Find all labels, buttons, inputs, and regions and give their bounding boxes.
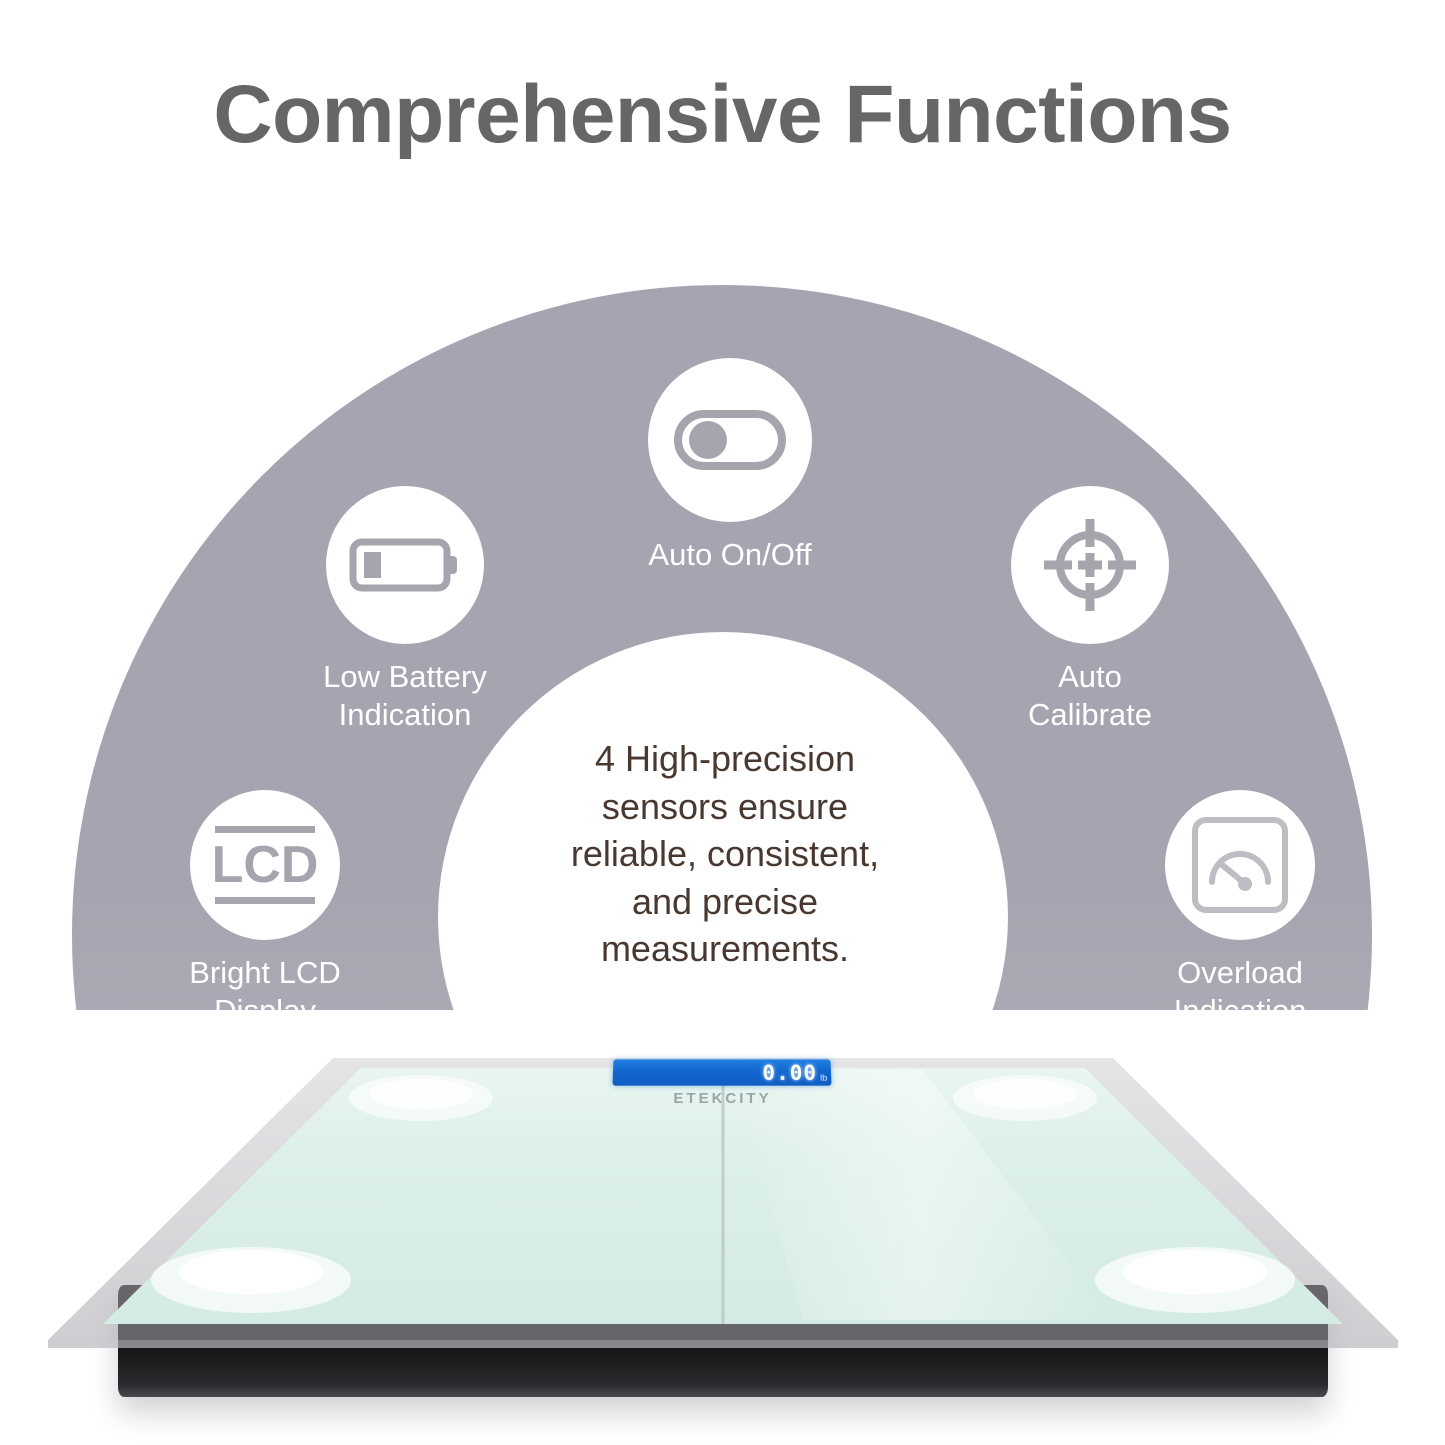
feature-auto-calibrate[interactable]: Auto Calibrate	[957, 486, 1223, 734]
lcd-unit-label: lb	[820, 1073, 827, 1083]
feature-overload[interactable]: Overload Indication	[1115, 790, 1365, 1030]
infographic-canvas: Comprehensive Functions 4 High-precision…	[0, 0, 1445, 1445]
svg-text:LCD: LCD	[212, 836, 319, 894]
feature-icon-bubble	[648, 358, 812, 522]
toggle-switch-icon	[674, 410, 786, 470]
lcd-weight-value: 0.00	[762, 1061, 817, 1084]
center-description: 4 High-precision sensors ensure reliable…	[470, 735, 980, 973]
feature-label: Bright LCD Display	[140, 954, 390, 1030]
crosshair-target-icon	[1038, 513, 1142, 617]
feature-bright-lcd[interactable]: LCD Bright LCD Display	[140, 790, 390, 1030]
gauge-icon	[1191, 816, 1289, 914]
feature-icon-bubble	[326, 486, 484, 644]
lcd-icon: LCD	[211, 824, 319, 906]
feature-label: Auto On/Off	[595, 536, 865, 574]
scale-lcd-display: 0.00 lb	[612, 1059, 831, 1085]
feature-label: Auto Calibrate	[957, 658, 1223, 734]
brand-logo-text: ETEKCITY	[0, 1090, 1445, 1107]
feature-auto-on-off[interactable]: Auto On/Off	[595, 358, 865, 574]
page-title: Comprehensive Functions	[0, 74, 1445, 156]
feature-icon-bubble	[1165, 790, 1315, 940]
feature-icon-bubble	[1011, 486, 1169, 644]
feature-label: Low Battery Indication	[272, 658, 538, 734]
feature-icon-bubble: LCD	[190, 790, 340, 940]
battery-low-icon	[349, 534, 461, 596]
product-scale: 0.00 lb ETEKCITY	[0, 1020, 1445, 1445]
feature-low-battery[interactable]: Low Battery Indication	[272, 486, 538, 734]
feature-label: Overload Indication	[1115, 954, 1365, 1030]
